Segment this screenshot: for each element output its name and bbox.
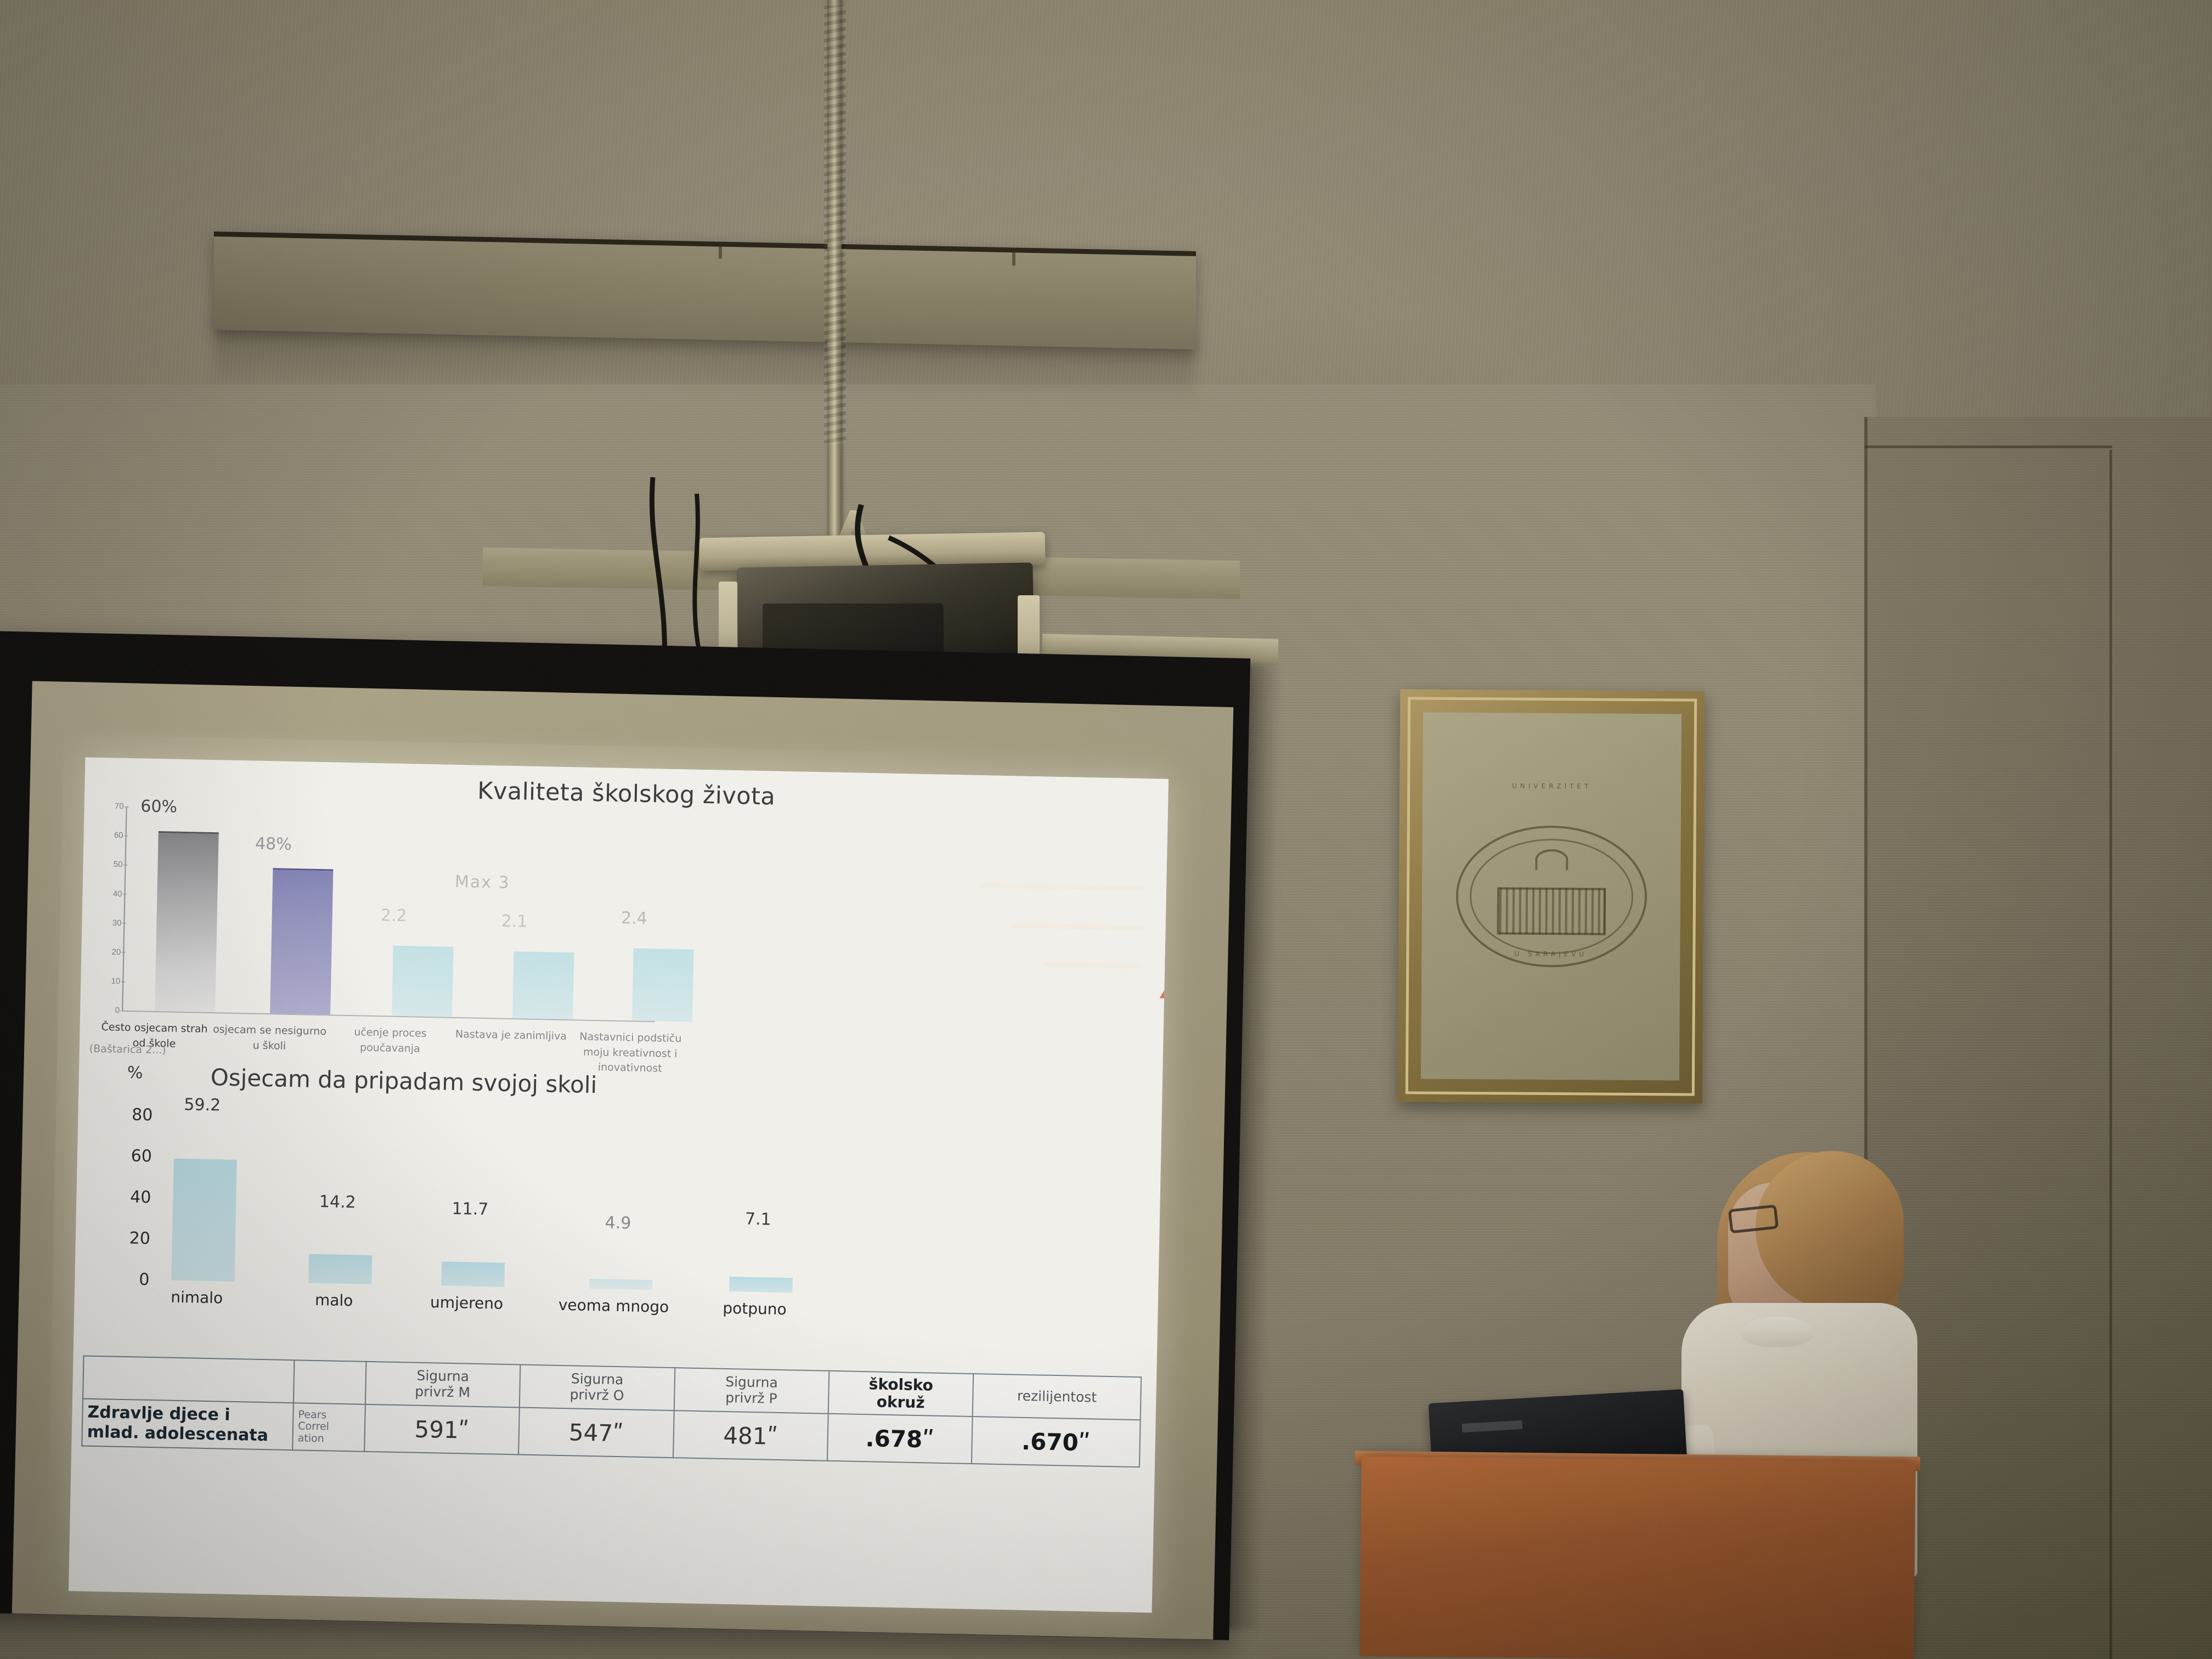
table-cell-skolsko-okruz: .678ʺ <box>827 1414 973 1464</box>
wall-seam-horizontal <box>1865 445 2112 448</box>
chart2-value-label-3: 11.7 <box>415 1199 526 1220</box>
table-header-rezilijentost: rezilijentost <box>973 1374 1141 1420</box>
seal-bottom-text: U SARAJEVU <box>1421 950 1680 959</box>
chart-kvaliteta-skolskog-zivota: 70 60 50 40 30 20 10 0 <box>89 800 659 1042</box>
table-cell-sigurna-privrz-p: 481ʺ <box>673 1410 828 1461</box>
chart1-value-label-3: 2.2 <box>341 905 446 927</box>
correlation-table: Sigurna privrž M Sigurna privrž O Sigurn… <box>81 1355 1142 1468</box>
chart1-value-label-5: 2.4 <box>582 908 686 929</box>
chart2-bar-5 <box>729 1291 792 1293</box>
chart1-category-label-2: osjecam se nesigurno u školi <box>212 1022 328 1054</box>
chart1-bar-4 <box>512 1018 573 1019</box>
table-cell-sigurna-privrz-m: 591ʺ <box>364 1404 520 1455</box>
projector-pole-cable-wrap <box>824 5 846 444</box>
chart1-bar-1 <box>155 1011 215 1012</box>
chart1-category-label-5: Nastavnici podstiču moju kreativnost i i… <box>572 1029 689 1077</box>
chart1-value-label-4: 2.1 <box>462 911 567 932</box>
chart1-y-axis: 70 60 50 40 30 20 10 0 <box>90 806 127 1011</box>
chart1-category-label-4: Nastava je zanimljiva <box>453 1027 569 1045</box>
chart1-citation: (Baštarica 2...) <box>89 1043 166 1057</box>
chart2-category-label-4: veoma mnogo <box>550 1296 677 1317</box>
ceiling-light-fixture <box>214 232 1196 349</box>
chart-osjecam-da-pripadam-svojoj-skoli: % Osjecam da pripadam svojoj skoli 80 60… <box>90 1065 864 1355</box>
podium <box>1359 1457 1916 1659</box>
chart1-bar-5 <box>632 1020 692 1022</box>
table-row-label: Zdravlje djece i mlad. adolescenata <box>82 1399 294 1451</box>
chart2-y-axis: 80 60 40 20 0 <box>113 1115 153 1280</box>
seal-building-icon <box>1497 887 1606 935</box>
table-cell-rezilijentost: .670ʺ <box>972 1417 1140 1467</box>
chart1-bar-3 <box>392 1016 452 1017</box>
seal-dome-icon <box>1535 849 1568 870</box>
chart2-value-label-1: 59.2 <box>147 1094 257 1116</box>
chart2-bar-3 <box>441 1286 504 1287</box>
chart1-value-label-1: 60% <box>106 796 211 817</box>
table-header-blank-1 <box>83 1356 295 1403</box>
chart2-bar-2 <box>308 1283 371 1284</box>
table-measure-label: Pears Correl ation <box>292 1403 365 1452</box>
chart2-bar-4 <box>589 1289 652 1290</box>
chart2-category-label-3: umjereno <box>403 1293 530 1313</box>
table-header-sigurna-privrz-o: Sigurna privrž O <box>520 1364 675 1410</box>
chart2-y-axis-unit: % <box>127 1063 143 1083</box>
projected-slide: Kvaliteta školskog života 70 60 50 40 30… <box>69 757 1169 1612</box>
presenter-glasses-icon <box>1728 1205 1779 1234</box>
chart2-value-label-2: 14.2 <box>283 1192 393 1213</box>
table-header-blank-2 <box>294 1360 366 1404</box>
presentation-room-photo: Kvaliteta školskog života 70 60 50 40 30… <box>0 0 2212 1659</box>
chart2-value-label-4: 4.9 <box>563 1212 673 1234</box>
wall-seam-vertical <box>2109 450 2112 1659</box>
chart2-value-label-5: 7.1 <box>703 1209 813 1230</box>
presenter-collar <box>1742 1317 1813 1347</box>
table-cell-sigurna-privrz-o: 547ʺ <box>518 1408 674 1458</box>
chart2-bar-1 <box>171 1280 234 1282</box>
table-header-sigurna-privrz-p: Sigurna privrž P <box>674 1368 829 1414</box>
chart1-value-label-2: 48% <box>221 833 326 855</box>
chart2-category-label-2: malo <box>270 1290 397 1311</box>
chart1-category-label-3: učenje proces poučavanja <box>332 1024 448 1057</box>
chart2-category-label-5: potpuno <box>691 1299 818 1319</box>
chart1-bar-2 <box>270 1013 330 1014</box>
table-header-skolsko-okruz: školsko okruž <box>828 1371 974 1417</box>
chart2-category-label-1: nimalo <box>133 1287 260 1308</box>
chart2-title: Osjecam da pripadam svojoj skoli <box>210 1064 597 1098</box>
table-header-sigurna-privrz-m: Sigurna privrž M <box>365 1362 520 1408</box>
seal-top-text: UNIVERZITET <box>1423 782 1681 791</box>
framed-university-seal: UNIVERZITET U SARAJEVU <box>1398 689 1705 1103</box>
chart1-max-annotation: Max 3 <box>455 872 510 893</box>
frame-mat: UNIVERZITET U SARAJEVU <box>1421 713 1681 1081</box>
